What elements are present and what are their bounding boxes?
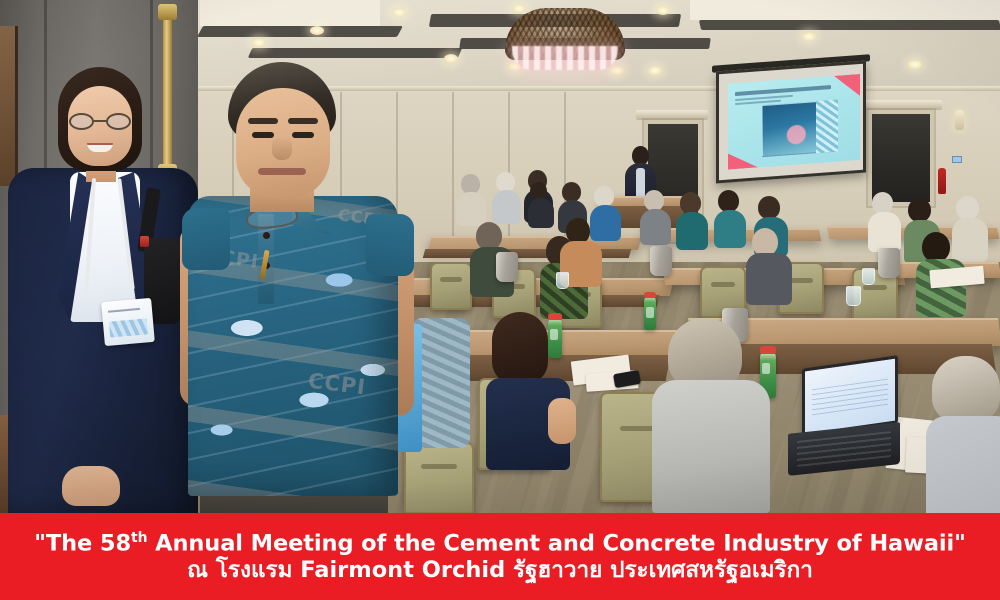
eye-right	[292, 132, 314, 138]
slide-image-secondary	[816, 100, 838, 154]
recessed-downlight	[392, 8, 406, 17]
recessed-downlight	[610, 66, 624, 75]
ceiling-soffit	[200, 0, 380, 26]
nose	[272, 136, 292, 160]
body	[868, 212, 901, 252]
chandelier-lights	[512, 46, 618, 70]
slide-title-bar	[735, 85, 831, 96]
arm	[548, 398, 576, 444]
water-glass	[862, 268, 875, 285]
lapel-pin	[140, 236, 149, 247]
recessed-downlight	[444, 54, 458, 63]
screenshot-root: CCPI CCPI CCPI	[0, 0, 1000, 600]
eyeglass-bridge	[94, 120, 106, 122]
caption-banner: "The 58th Annual Meeting of the Cement a…	[0, 513, 1000, 600]
head	[461, 174, 480, 194]
body	[652, 380, 770, 513]
head	[562, 182, 581, 202]
shirt-button	[263, 232, 270, 239]
sleeve-right	[366, 214, 414, 276]
caption-ordinal-suffix: th	[131, 530, 147, 546]
ceiling-soffit	[690, 0, 1000, 20]
chair	[430, 262, 472, 310]
sleeve-left	[182, 208, 230, 270]
laptop-screen-content	[812, 378, 888, 417]
head	[594, 186, 614, 207]
head	[492, 312, 548, 384]
wall-sconce	[955, 110, 964, 130]
head	[644, 190, 664, 211]
coffee-carafe	[496, 252, 518, 282]
water-glass	[556, 272, 569, 289]
eye-left	[252, 132, 274, 138]
ceiling-beam	[197, 26, 403, 37]
body	[746, 253, 792, 305]
presentation-screen	[716, 60, 866, 183]
recessed-downlight	[802, 32, 816, 41]
head	[680, 192, 701, 214]
presentation-slide	[728, 74, 860, 170]
head	[908, 198, 931, 222]
water-glass	[846, 286, 861, 306]
caption-title-suffix: Annual Meeting of the Cement and Concret…	[147, 530, 965, 556]
body	[590, 205, 621, 241]
sparkling-water-bottle	[548, 318, 562, 358]
caption-venue-line: ณ โรงแรม Fairmont Orchid รัฐฮาวาย ประเทศ…	[187, 558, 813, 583]
fire-extinguisher	[938, 168, 946, 194]
badge-logo	[109, 318, 148, 337]
head	[956, 196, 979, 220]
body	[952, 218, 988, 262]
shirt-logo-text: CCPI	[307, 369, 368, 400]
body	[714, 210, 746, 248]
bottle-cap	[548, 313, 562, 320]
doorway	[868, 110, 934, 206]
ceiling-beam	[699, 20, 1000, 30]
ceiling-beam	[248, 48, 462, 58]
body	[676, 212, 708, 250]
chair	[404, 442, 474, 513]
exit-sign	[952, 156, 962, 163]
head	[752, 228, 778, 256]
eyebrow-right	[288, 118, 318, 124]
head	[872, 192, 893, 214]
body	[492, 190, 521, 224]
caption-title-line: "The 58th Annual Meeting of the Cement a…	[34, 531, 966, 556]
head	[668, 318, 742, 388]
recessed-downlight	[648, 66, 662, 75]
slide-accent-corner	[834, 74, 860, 98]
door-pull-handle[interactable]	[163, 8, 172, 176]
coffee-carafe	[878, 248, 900, 278]
recessed-downlight	[908, 60, 922, 69]
recessed-downlight	[656, 6, 670, 15]
body	[528, 198, 554, 228]
eyeglasses	[69, 113, 131, 130]
bottle-cap	[644, 292, 656, 298]
coffee-carafe	[650, 246, 672, 276]
recessed-downlight	[310, 26, 324, 35]
sparkling-water-bottle	[644, 296, 656, 330]
eyeglass-lens-right	[106, 113, 131, 130]
conference-photo: CCPI CCPI CCPI	[0, 0, 1000, 513]
head	[932, 356, 1000, 422]
head	[496, 172, 515, 192]
eyeglass-lens-left	[69, 113, 94, 130]
head	[718, 190, 739, 212]
eyebrow-left	[248, 118, 278, 124]
clasped-hands	[62, 466, 120, 506]
head	[758, 196, 780, 219]
wall-artwork	[0, 26, 18, 186]
wall-panel-line	[452, 92, 454, 252]
badge-text-line	[108, 308, 140, 313]
mouth	[258, 168, 306, 175]
head	[476, 222, 502, 250]
body	[456, 192, 486, 226]
door-header	[636, 110, 708, 120]
name-badge	[101, 298, 155, 346]
body	[640, 209, 671, 245]
door-header	[862, 100, 942, 110]
laptop-keys	[797, 431, 891, 468]
head	[922, 232, 950, 262]
recessed-downlight	[252, 38, 266, 47]
slide-accent-corner	[728, 151, 758, 169]
recessed-downlight	[512, 4, 526, 13]
bottle-cap	[760, 346, 776, 354]
body	[926, 416, 1000, 513]
caption-title-prefix: "The 58	[34, 530, 131, 556]
door-handle-plate	[158, 4, 177, 20]
